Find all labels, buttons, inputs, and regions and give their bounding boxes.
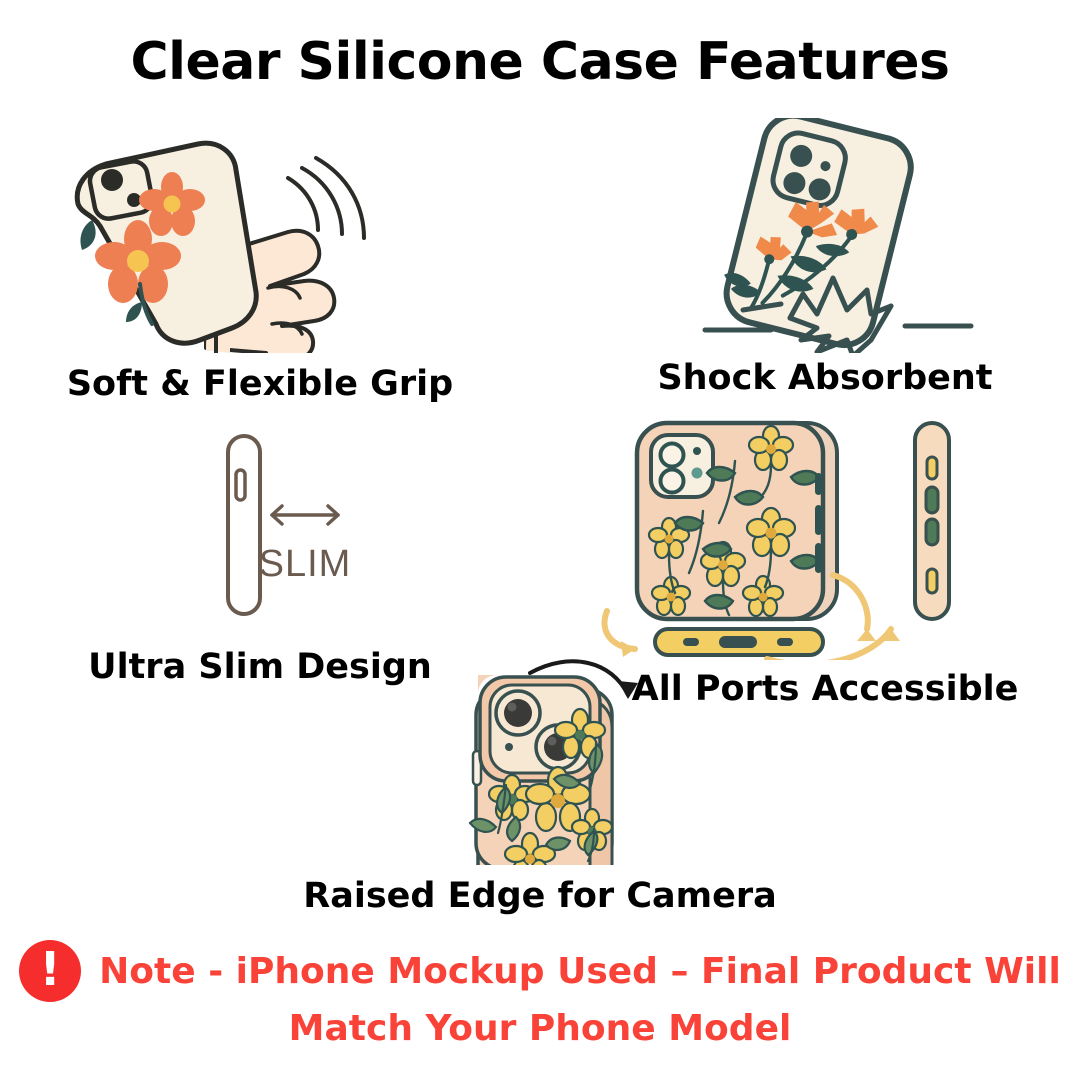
phone-drop-impact-icon <box>585 118 1065 358</box>
phone-side-profile-icon: SLIM <box>20 418 500 633</box>
note-line-1: Note - iPhone Mockup Used – Final Produc… <box>99 951 1061 992</box>
phone-ports-cutouts-icon <box>585 415 1065 665</box>
note-line-2: Match Your Phone Model <box>289 1008 792 1049</box>
exclamation-glyph: ! <box>40 946 61 992</box>
page-title: Clear Silicone Case Features <box>0 32 1080 92</box>
disclaimer-note: ! Note - iPhone Mockup Used – Final Prod… <box>0 940 1080 1049</box>
feature-soft-flexible-grip: Soft & Flexible Grip <box>20 118 500 404</box>
feature-raised-edge-camera: Raised Edge for Camera <box>290 655 790 916</box>
exclamation-circle-icon: ! <box>19 940 81 1002</box>
infographic-page: Clear Silicone Case Features <box>0 0 1080 1080</box>
hand-flexing-phone-case-icon <box>20 118 500 358</box>
feature-shock-absorbent: Shock Absorbent <box>585 118 1065 398</box>
svg-text:SLIM: SLIM <box>259 543 352 585</box>
feature-caption: Raised Edge for Camera <box>290 876 790 916</box>
phone-raised-camera-bezel-icon <box>290 655 790 870</box>
feature-caption: Soft & Flexible Grip <box>20 364 500 404</box>
feature-caption: Shock Absorbent <box>585 358 1065 398</box>
feature-ultra-slim-design: SLIM Ultra Slim Design <box>20 418 500 687</box>
